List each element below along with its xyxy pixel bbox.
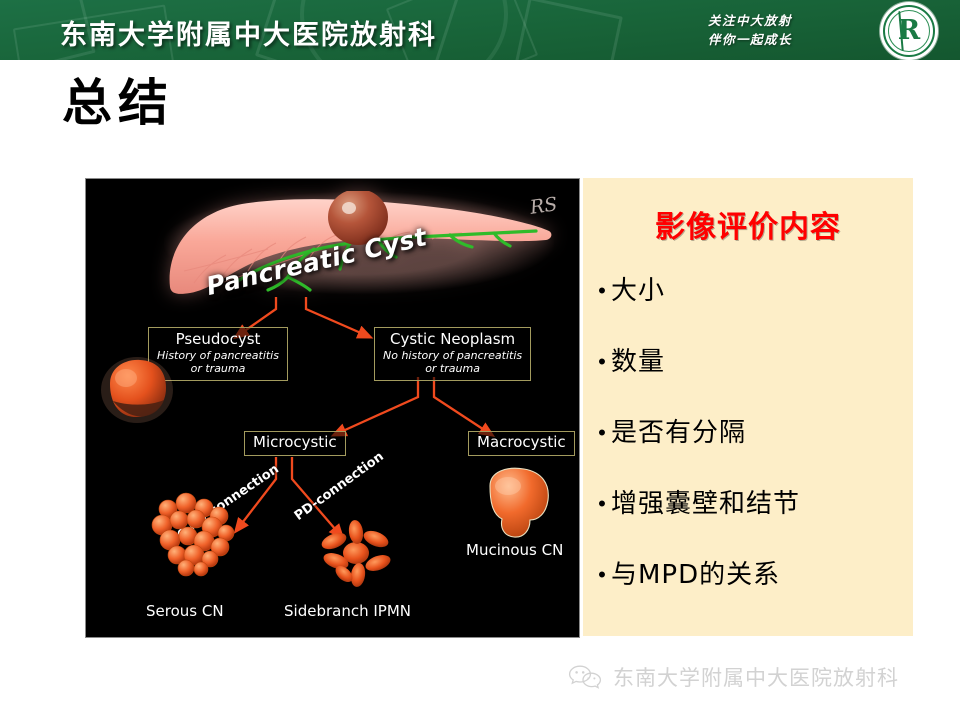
page-title: 总结 xyxy=(62,78,174,128)
list-item-label: 大小 xyxy=(611,274,665,308)
banner-title: 东南大学附属中大医院放射科 xyxy=(60,13,437,52)
leaf-label-mucinous-cn: Mucinous CN xyxy=(466,541,563,559)
banner-slogan: 关注中大放射 伴你一起成长 xyxy=(670,11,830,49)
serous-cn-specimen-image xyxy=(146,489,242,581)
header-banner: 东南大学附属中大医院放射科 关注中大放射 伴你一起成长 R xyxy=(0,0,960,60)
list-item: • 是否有分隔 xyxy=(583,416,913,487)
pancreatic-cyst-flowchart-image: RS Pancreatic Cyst Pseudocyst History of xyxy=(85,178,580,638)
bullet-icon: • xyxy=(593,345,611,379)
list-item-label: 是否有分隔 xyxy=(611,416,746,450)
node-title: Macrocystic xyxy=(477,433,566,452)
logo-letter: R xyxy=(898,17,920,44)
imaging-evaluation-panel: 影像评价内容 • 大小 • 数量 • 是否有分隔 • 增强囊壁和结节 • 与MP… xyxy=(583,178,913,636)
list-item-label: 增强囊壁和结节 xyxy=(611,487,800,521)
notes-bullet-list: • 大小 • 数量 • 是否有分隔 • 增强囊壁和结节 • 与MPD的关系 xyxy=(583,274,913,629)
node-title: Cystic Neoplasm xyxy=(383,330,522,349)
flowchart-node-macrocystic: Macrocystic xyxy=(468,431,575,456)
department-logo-icon: R xyxy=(880,2,938,60)
node-subtitle-line-1: History of pancreatitis xyxy=(157,349,279,362)
presentation-slide: 东南大学附属中大医院放射科 关注中大放射 伴你一起成长 R 总结 xyxy=(0,0,960,720)
notes-heading: 影像评价内容 xyxy=(583,202,913,246)
list-item-label: 数量 xyxy=(611,345,665,379)
list-item: • 与MPD的关系 xyxy=(583,558,913,629)
leaf-label-serous-cn: Serous CN xyxy=(146,602,224,620)
node-subtitle-line-2: or trauma xyxy=(157,362,279,375)
footer-label: 东南大学附属中大医院放射科 xyxy=(613,662,899,692)
pseudocyst-specimen-image xyxy=(100,354,174,424)
mucinous-cn-specimen-image xyxy=(478,464,560,542)
list-item: • 数量 xyxy=(583,345,913,416)
list-item-label: 与MPD的关系 xyxy=(611,558,780,592)
slogan-line-1: 关注中大放射 xyxy=(670,11,830,30)
list-item: • 大小 xyxy=(583,274,913,345)
node-title: Pseudocyst xyxy=(157,330,279,349)
bullet-icon: • xyxy=(593,416,611,450)
bullet-icon: • xyxy=(593,558,611,592)
node-subtitle-line-1: No history of pancreatitis xyxy=(383,349,522,362)
list-item: • 增强囊壁和结节 xyxy=(583,487,913,558)
slogan-line-2: 伴你一起成长 xyxy=(670,30,830,49)
leaf-label-sidebranch-ipmn: Sidebranch IPMN xyxy=(284,602,411,620)
footer-watermark: 东南大学附属中大医院放射科 xyxy=(568,660,899,694)
wechat-icon xyxy=(568,664,602,690)
flowchart-node-cystic-neoplasm: Cystic Neoplasm No history of pancreatit… xyxy=(374,327,531,381)
node-title: Microcystic xyxy=(253,433,337,452)
bullet-icon: • xyxy=(593,487,611,521)
node-subtitle-line-2: or trauma xyxy=(383,362,522,375)
bullet-icon: • xyxy=(593,274,611,308)
flowchart-node-microcystic: Microcystic xyxy=(244,431,346,456)
sidebranch-ipmn-specimen-image xyxy=(314,519,398,587)
